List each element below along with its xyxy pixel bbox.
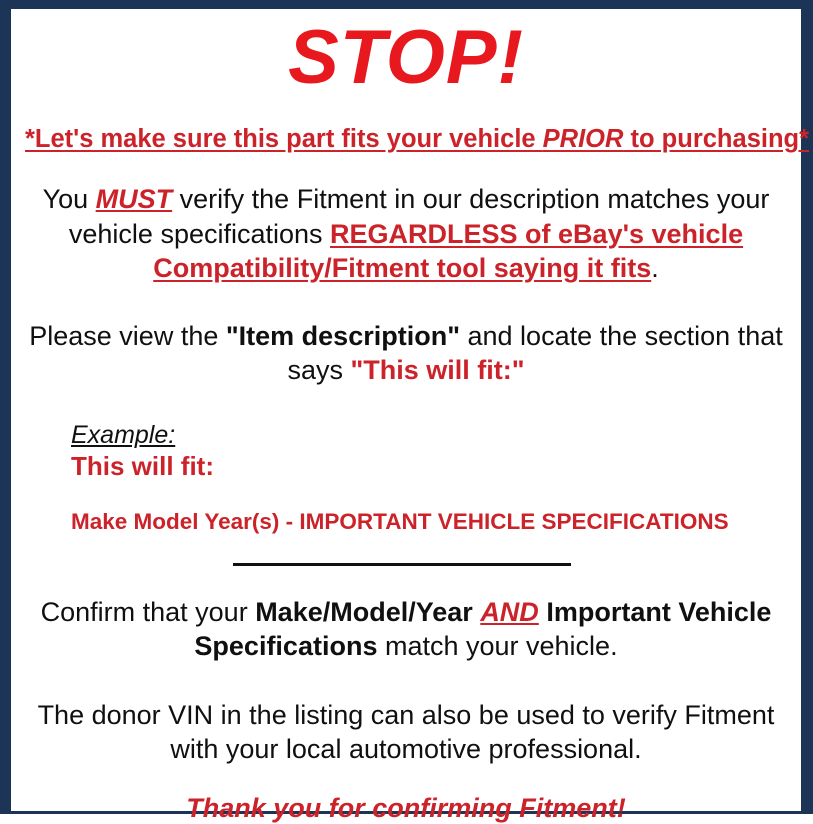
must-seg1: You <box>43 184 96 214</box>
example-label: Example: <box>71 421 787 450</box>
notice-body: STOP! *Let's make sure this part fits yo… <box>11 20 801 811</box>
paragraph-item-description: Please view the "Item description" and l… <box>25 319 787 388</box>
divider-wrapper <box>25 559 787 569</box>
paragraph-must-verify: You MUST verify the Fitment in our descr… <box>25 182 787 286</box>
confirm-bold-make-model-year: Make/Model/Year <box>255 597 473 627</box>
example-spec-line: Make Model Year(s) - IMPORTANT VEHICLE S… <box>71 508 787 535</box>
thank-you-message: Thank you for confirming Fitment! <box>25 792 787 824</box>
confirm-emphasis-and: AND <box>480 597 539 627</box>
desc-red-this-will-fit: "This will fit:" <box>350 355 524 385</box>
subtitle-prefix: *Let's make sure this part fits your veh… <box>25 125 543 153</box>
must-emphasis: MUST <box>96 184 173 214</box>
confirm-seg2: match your vehicle. <box>377 631 617 661</box>
must-seg3: . <box>651 253 659 283</box>
example-block: Example: This will fit: Make Model Year(… <box>25 421 787 535</box>
desc-bold-item-description: "Item description" <box>226 321 460 351</box>
subtitle-banner: *Let's make sure this part fits your veh… <box>25 125 787 153</box>
subtitle-emphasis: PRIOR <box>543 125 624 153</box>
subtitle-suffix: to purchasing* <box>623 125 809 153</box>
confirm-seg1: Confirm that your <box>41 597 256 627</box>
section-divider <box>233 563 571 566</box>
paragraph-donor-vin: The donor VIN in the listing can also be… <box>25 698 787 767</box>
paragraph-confirm: Confirm that your Make/Model/Year AND Im… <box>25 595 787 664</box>
fitment-notice-card: STOP! *Let's make sure this part fits yo… <box>0 0 813 814</box>
page-title: STOP! <box>25 20 787 96</box>
desc-seg1: Please view the <box>29 321 226 351</box>
example-fit-heading: This will fit: <box>71 451 787 482</box>
